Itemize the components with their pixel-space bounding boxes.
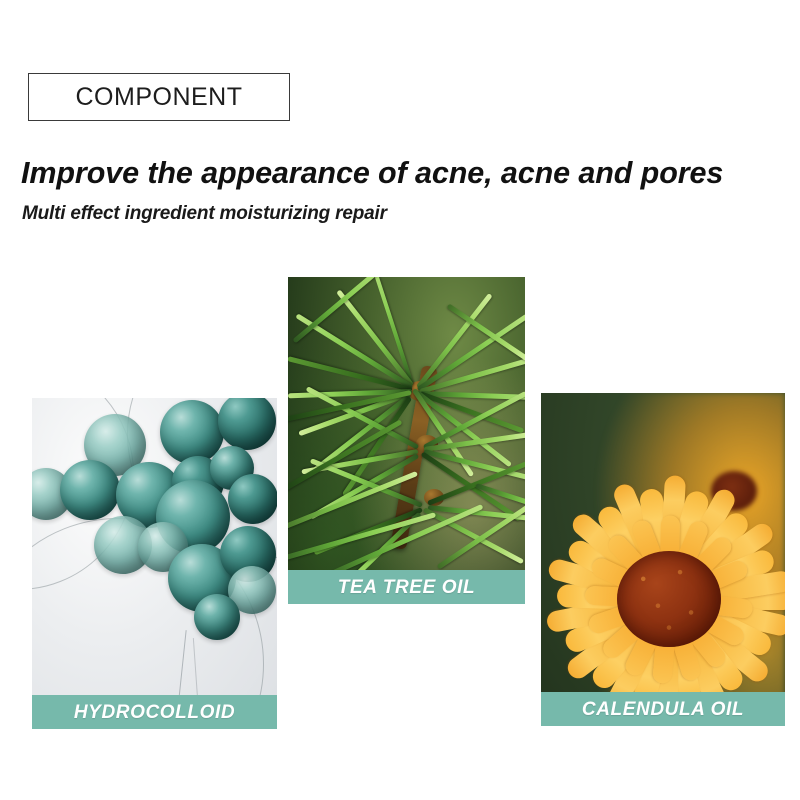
caption-band-hydrocolloid: HYDROCOLLOID [32, 695, 277, 729]
molecule-sphere [228, 474, 277, 524]
caption-band-tea-tree-oil: TEA TREE OIL [288, 570, 525, 604]
hydrocolloid-image [32, 398, 277, 729]
component-eyebrow-box: COMPONENT [28, 73, 290, 121]
flower-center-disc [617, 551, 721, 647]
ingredient-card-calendula-oil: CALENDULA OIL [541, 393, 785, 726]
component-eyebrow-label: COMPONENT [76, 85, 243, 110]
ingredient-caption-label: TEA TREE OIL [338, 578, 475, 597]
tea-tree-oil-image [288, 277, 525, 604]
molecule-sphere [194, 594, 240, 640]
ingredient-card-hydrocolloid: HYDROCOLLOID [32, 398, 277, 729]
calendula-flower [547, 477, 785, 721]
ingredient-card-tea-tree-oil: TEA TREE OIL [288, 277, 525, 604]
calendula-oil-image [541, 393, 785, 726]
ingredient-caption-label: CALENDULA OIL [582, 700, 744, 719]
caption-band-calendula-oil: CALENDULA OIL [541, 692, 785, 726]
molecule-sphere [60, 460, 120, 520]
page-subtitle: Multi effect ingredient moisturizing rep… [22, 203, 387, 225]
page-title: Improve the appearance of acne, acne and… [21, 156, 723, 190]
ingredient-caption-label: HYDROCOLLOID [74, 703, 235, 722]
